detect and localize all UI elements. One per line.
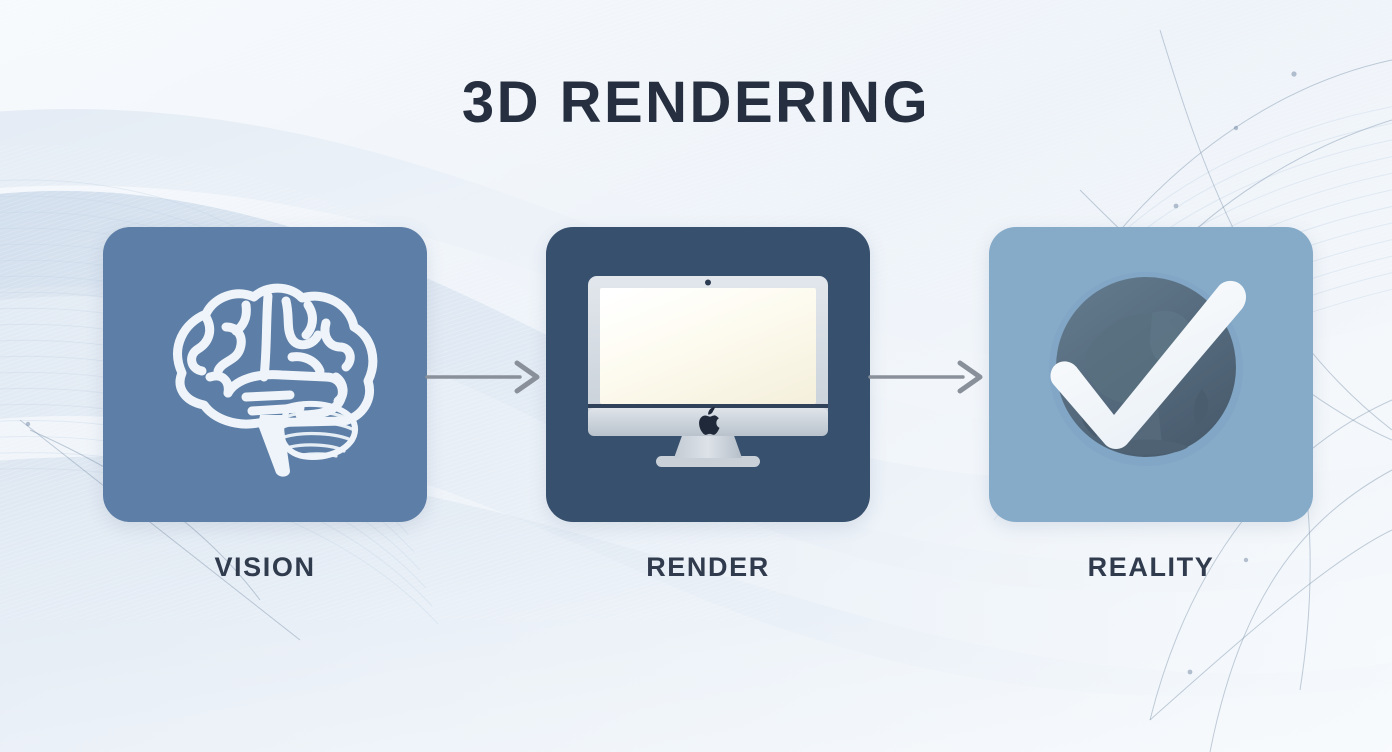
step-card-render[interactable] xyxy=(546,227,870,522)
step-card-vision[interactable] xyxy=(103,227,427,522)
infographic-canvas: 3D RENDERING xyxy=(0,0,1392,752)
imac-monitor-icon xyxy=(546,227,870,522)
brain-icon xyxy=(103,227,427,522)
webcam-dot xyxy=(705,279,711,285)
monitor-screen xyxy=(600,288,816,404)
step-card-reality[interactable] xyxy=(989,227,1313,522)
arrow-right-icon-1 xyxy=(425,357,545,397)
globe-check-icon xyxy=(989,227,1313,522)
step-label-vision: VISION xyxy=(103,552,427,583)
step-label-reality: REALITY xyxy=(989,552,1313,583)
arrow-right-icon-2 xyxy=(868,357,988,397)
page-title: 3D RENDERING xyxy=(0,74,1392,132)
step-label-render: RENDER xyxy=(546,552,870,583)
